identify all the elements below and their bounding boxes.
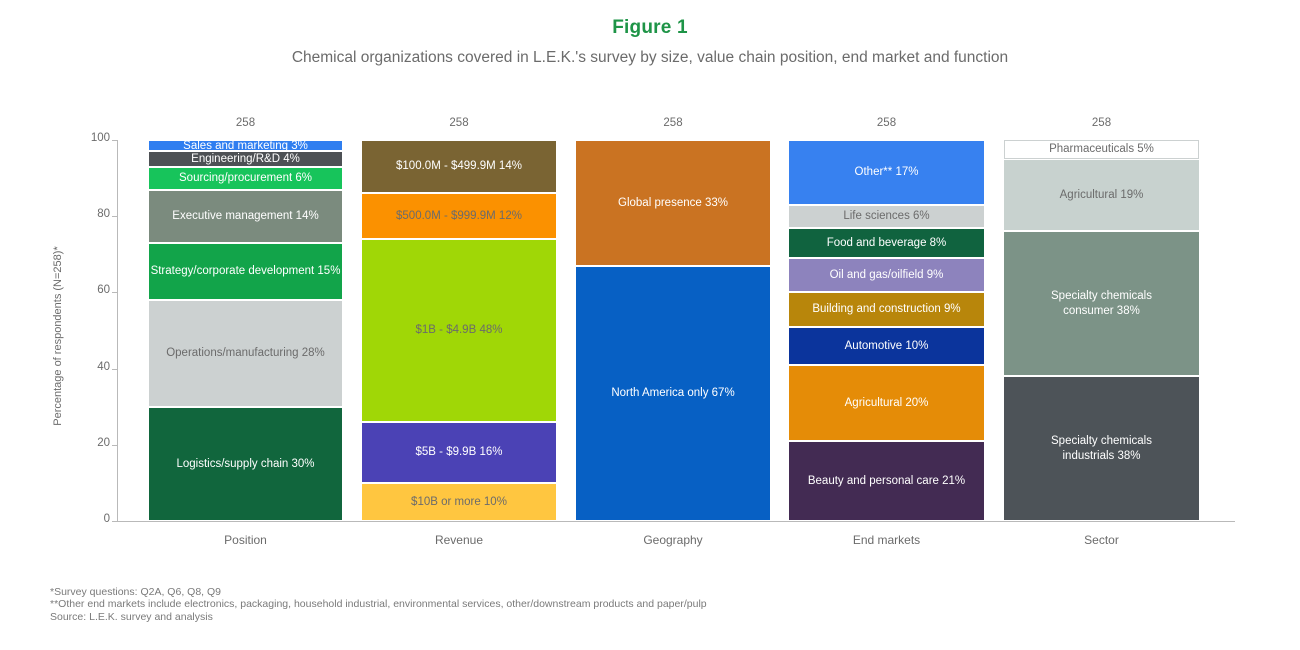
bar-segment[interactable]: Agricultural 20% — [789, 365, 984, 441]
stacked-bar: Other** 17%Life sciences 6%Food and beve… — [789, 140, 984, 521]
bar-segment-label: Other** 17% — [855, 165, 919, 179]
chart-column-sector: 258Pharmaceuticals 5%Agricultural 19%Spe… — [1004, 0, 1199, 650]
bar-segment-label: Beauty and personal care 21% — [808, 474, 965, 488]
bar-segment[interactable]: Executive management 14% — [149, 190, 342, 243]
bar-segment-label: $5B - $9.9B 16% — [416, 445, 503, 459]
bar-segment-label: Food and beverage 8% — [827, 236, 947, 250]
bar-segment-label: Specialty chemicals consumer 38% — [1051, 289, 1152, 318]
bar-segment[interactable]: Oil and gas/oilfield 9% — [789, 258, 984, 292]
x-axis-category-label: Sector — [1004, 533, 1199, 547]
x-axis-category-label: End markets — [789, 533, 984, 547]
stacked-bar: Global presence 33%North America only 67… — [576, 140, 770, 521]
chart-column-geography: 258Global presence 33%North America only… — [576, 0, 770, 650]
bar-segment-label: Sourcing/procurement 6% — [179, 171, 312, 185]
column-count-label: 258 — [362, 117, 556, 129]
bar-segment[interactable]: $5B - $9.9B 16% — [362, 422, 556, 483]
bar-segment[interactable]: Operations/manufacturing 28% — [149, 300, 342, 407]
bar-segment[interactable]: $1B - $4.9B 48% — [362, 239, 556, 422]
bar-segment[interactable]: Other** 17% — [789, 140, 984, 205]
bar-segment[interactable]: Sales and marketing 3% — [149, 140, 342, 151]
bar-segment-label: Operations/manufacturing 28% — [166, 346, 325, 360]
y-axis-title: Percentage of respondents (N=258)* — [52, 136, 64, 536]
y-tick-label-80: 80 — [70, 209, 110, 221]
bar-segment-label: North America only 67% — [611, 386, 734, 400]
y-tick-mark-20 — [112, 445, 117, 446]
x-axis-category-label: Revenue — [362, 533, 556, 547]
y-axis-line — [117, 140, 118, 521]
stacked-bar: Sales and marketing 3%Engineering/R&D 4%… — [149, 140, 342, 521]
bar-segment[interactable]: $100.0M - $499.9M 14% — [362, 140, 556, 193]
column-count-label: 258 — [789, 117, 984, 129]
bar-segment-label: Agricultural 20% — [845, 396, 929, 410]
stacked-bar-chart: Percentage of respondents (N=258)* 10080… — [0, 0, 1300, 650]
bar-segment[interactable]: Building and construction 9% — [789, 292, 984, 326]
y-tick-label-0: 0 — [70, 514, 110, 526]
column-count-label: 258 — [149, 117, 342, 129]
bar-segment-label: Automotive 10% — [845, 339, 929, 353]
bar-segment-label: $10B or more 10% — [411, 495, 507, 509]
bar-segment-label: Agricultural 19% — [1060, 188, 1144, 202]
y-tick-label-20: 20 — [70, 438, 110, 450]
bar-segment[interactable]: Sourcing/procurement 6% — [149, 167, 342, 190]
footnote-line-1: *Survey questions: Q2A, Q6, Q8, Q9 — [50, 586, 707, 598]
bar-segment[interactable]: Specialty chemicals industrials 38% — [1004, 376, 1199, 521]
y-tick-mark-100 — [112, 140, 117, 141]
bar-segment-label: Pharmaceuticals 5% — [1049, 142, 1154, 156]
footnote-line-2: **Other end markets include electronics,… — [50, 598, 707, 610]
bar-segment[interactable]: Logistics/supply chain 30% — [149, 407, 342, 521]
bar-segment[interactable]: Food and beverage 8% — [789, 228, 984, 258]
y-tick-mark-60 — [112, 292, 117, 293]
stacked-bar: $100.0M - $499.9M 14%$500.0M - $999.9M 1… — [362, 140, 556, 521]
bar-segment-label: Engineering/R&D 4% — [191, 152, 300, 166]
bar-segment[interactable]: Beauty and personal care 21% — [789, 441, 984, 521]
column-count-label: 258 — [576, 117, 770, 129]
bar-segment[interactable]: Pharmaceuticals 5% — [1004, 140, 1199, 159]
footnotes: *Survey questions: Q2A, Q6, Q8, Q9 **Oth… — [50, 586, 707, 623]
bar-segment[interactable]: Strategy/corporate development 15% — [149, 243, 342, 300]
bar-segment[interactable]: Specialty chemicals consumer 38% — [1004, 231, 1199, 376]
bar-segment-label: Logistics/supply chain 30% — [176, 457, 314, 471]
bar-segment-label: $1B - $4.9B 48% — [416, 323, 503, 337]
column-count-label: 258 — [1004, 117, 1199, 129]
x-axis-category-label: Position — [149, 533, 342, 547]
bar-segment[interactable]: Engineering/R&D 4% — [149, 151, 342, 166]
y-tick-label-60: 60 — [70, 285, 110, 297]
bar-segment[interactable]: $10B or more 10% — [362, 483, 556, 521]
x-axis-category-label: Geography — [576, 533, 770, 547]
footnote-line-3: Source: L.E.K. survey and analysis — [50, 611, 707, 623]
stacked-bar: Pharmaceuticals 5%Agricultural 19%Specia… — [1004, 140, 1199, 521]
bar-segment-label: Strategy/corporate development 15% — [151, 264, 341, 278]
bar-segment-label: $500.0M - $999.9M 12% — [396, 209, 522, 223]
bar-segment-label: Global presence 33% — [618, 196, 728, 210]
y-tick-label-100: 100 — [70, 133, 110, 145]
bar-segment-label: Specialty chemicals industrials 38% — [1051, 434, 1152, 463]
bar-segment[interactable]: Global presence 33% — [576, 140, 770, 266]
bar-segment[interactable]: Life sciences 6% — [789, 205, 984, 228]
bar-segment[interactable]: Agricultural 19% — [1004, 159, 1199, 231]
chart-column-position: 258Sales and marketing 3%Engineering/R&D… — [149, 0, 342, 650]
bar-segment[interactable]: Automotive 10% — [789, 327, 984, 365]
bar-segment-label: Sales and marketing 3% — [183, 140, 308, 151]
bar-segment-label: Oil and gas/oilfield 9% — [830, 268, 944, 282]
bar-segment-label: Building and construction 9% — [812, 302, 960, 316]
y-tick-mark-0 — [112, 521, 117, 522]
y-tick-mark-80 — [112, 216, 117, 217]
chart-column-revenue: 258$100.0M - $499.9M 14%$500.0M - $999.9… — [362, 0, 556, 650]
bar-segment[interactable]: North America only 67% — [576, 266, 770, 521]
y-tick-mark-40 — [112, 369, 117, 370]
chart-column-end-markets: 258Other** 17%Life sciences 6%Food and b… — [789, 0, 984, 650]
bar-segment-label: $100.0M - $499.9M 14% — [396, 159, 522, 173]
y-tick-label-40: 40 — [70, 362, 110, 374]
bar-segment-label: Executive management 14% — [172, 209, 318, 223]
bar-segment-label: Life sciences 6% — [843, 209, 929, 223]
bar-segment[interactable]: $500.0M - $999.9M 12% — [362, 193, 556, 239]
